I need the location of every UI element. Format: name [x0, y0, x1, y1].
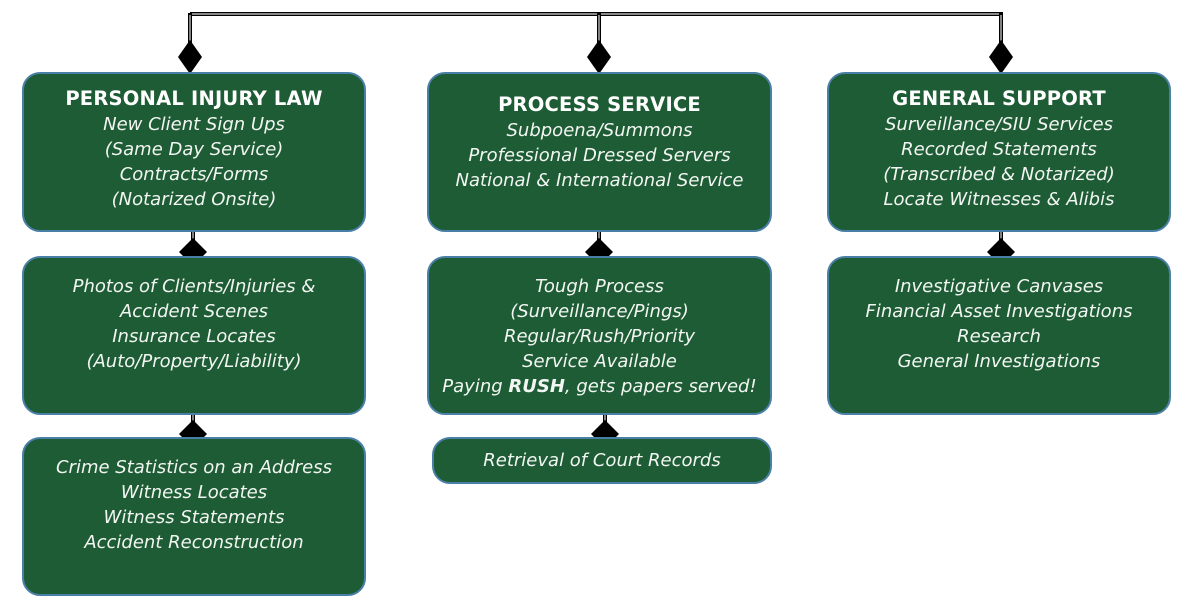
node-line: Service Available	[522, 349, 677, 374]
node-line: National & International Service	[456, 168, 744, 193]
node-line: Locate Witnesses & Alibis	[884, 187, 1115, 212]
node-title: PERSONAL INJURY LAW	[65, 86, 322, 112]
node-line: (Notarized Onsite)	[112, 187, 277, 212]
node-line: Contracts/Forms	[120, 162, 269, 187]
node-line: Photos of Clients/Injuries &	[73, 274, 316, 299]
node-line: Witness Locates	[121, 480, 267, 505]
node-line: Investigative Canvases	[895, 274, 1103, 299]
diamond-arrowhead	[178, 40, 202, 74]
diamond-arrowhead	[989, 40, 1013, 74]
rush-before: Paying	[442, 376, 508, 397]
node-line: Recorded Statements	[901, 137, 1097, 162]
node-photos-insurance[interactable]: Photos of Clients/Injuries & Accident Sc…	[22, 256, 366, 415]
node-tough-process[interactable]: Tough Process (Surveillance/Pings) Regul…	[427, 256, 772, 415]
node-line: (Auto/Property/Liability)	[86, 349, 301, 374]
node-personal-injury-law-header[interactable]: PERSONAL INJURY LAW New Client Sign Ups …	[22, 72, 366, 232]
node-line: Research	[957, 324, 1041, 349]
node-line: Insurance Locates	[112, 324, 276, 349]
rush-after: , gets papers served!	[565, 376, 757, 397]
node-line: New Client Sign Ups	[103, 112, 285, 137]
node-title: GENERAL SUPPORT	[892, 86, 1106, 112]
node-crime-stats-witness[interactable]: Crime Statistics on an Address Witness L…	[22, 437, 366, 596]
node-line: (Same Day Service)	[105, 137, 284, 162]
node-line: Tough Process	[535, 274, 664, 299]
node-line: Financial Asset Investigations	[866, 299, 1133, 324]
node-line: General Investigations	[898, 349, 1101, 374]
node-line: Accident Scenes	[120, 299, 268, 324]
node-retrieval-court-records[interactable]: Retrieval of Court Records	[432, 437, 772, 484]
diagram-canvas: PERSONAL INJURY LAW New Client Sign Ups …	[0, 0, 1200, 611]
node-line: Retrieval of Court Records	[483, 448, 720, 473]
diamond-arrowhead	[587, 40, 611, 74]
node-line: (Surveillance/Pings)	[510, 299, 689, 324]
node-line: Regular/Rush/Priority	[504, 324, 695, 349]
node-line: Witness Statements	[104, 505, 285, 530]
rush-emphasis: RUSH	[508, 376, 565, 397]
node-line: Surveillance/SIU Services	[885, 112, 1113, 137]
node-process-service-header[interactable]: PROCESS SERVICE Subpoena/Summons Profess…	[427, 72, 772, 232]
node-line: Accident Reconstruction	[84, 530, 303, 555]
node-investigations[interactable]: Investigative Canvases Financial Asset I…	[827, 256, 1171, 415]
node-line: Subpoena/Summons	[507, 118, 693, 143]
node-line-rush: Paying RUSH, gets papers served!	[442, 374, 756, 399]
node-line: Professional Dressed Servers	[468, 143, 730, 168]
node-general-support-header[interactable]: GENERAL SUPPORT Surveillance/SIU Service…	[827, 72, 1171, 232]
node-title: PROCESS SERVICE	[498, 92, 701, 118]
node-line: Crime Statistics on an Address	[56, 455, 332, 480]
node-line: (Transcribed & Notarized)	[883, 162, 1114, 187]
